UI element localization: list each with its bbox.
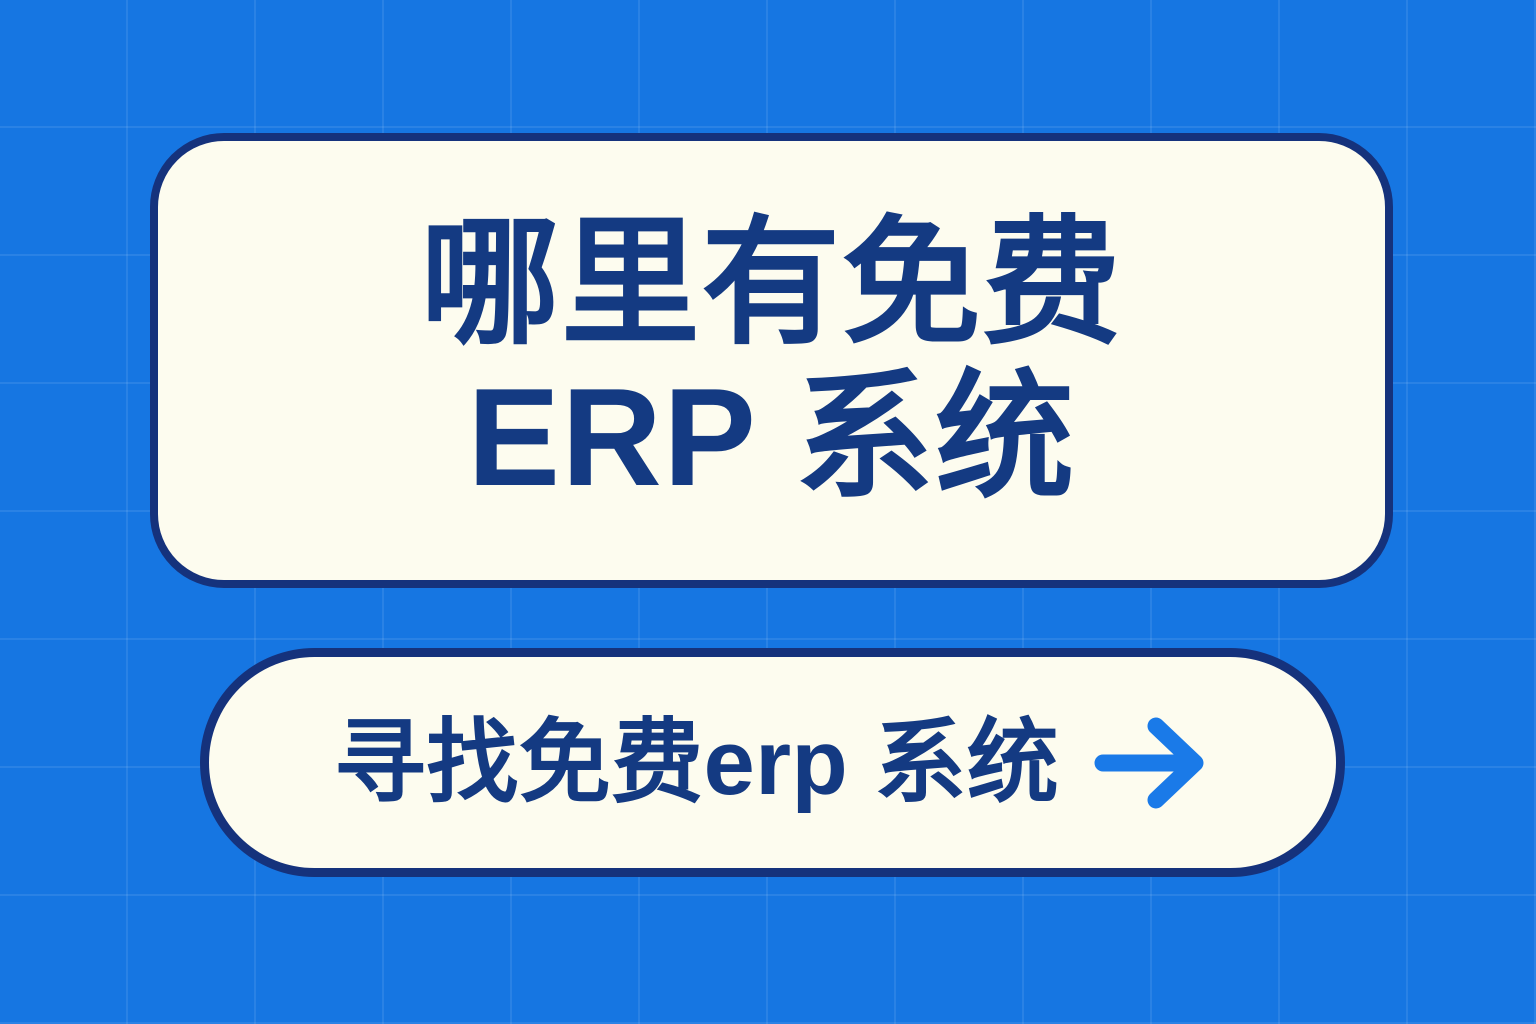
promo-banner: 哪里有免费 ERP 系统 寻找免费erp 系统 (0, 0, 1536, 1024)
headline-card: 哪里有免费 ERP 系统 (150, 133, 1393, 588)
headline-line-2: ERP 系统 (467, 364, 1075, 511)
cta-button[interactable]: 寻找免费erp 系统 (200, 648, 1345, 877)
cta-button-label: 寻找免费erp 系统 (334, 717, 1059, 809)
headline-line-1: 哪里有免费 (421, 210, 1123, 357)
arrow-right-icon (1093, 715, 1211, 811)
